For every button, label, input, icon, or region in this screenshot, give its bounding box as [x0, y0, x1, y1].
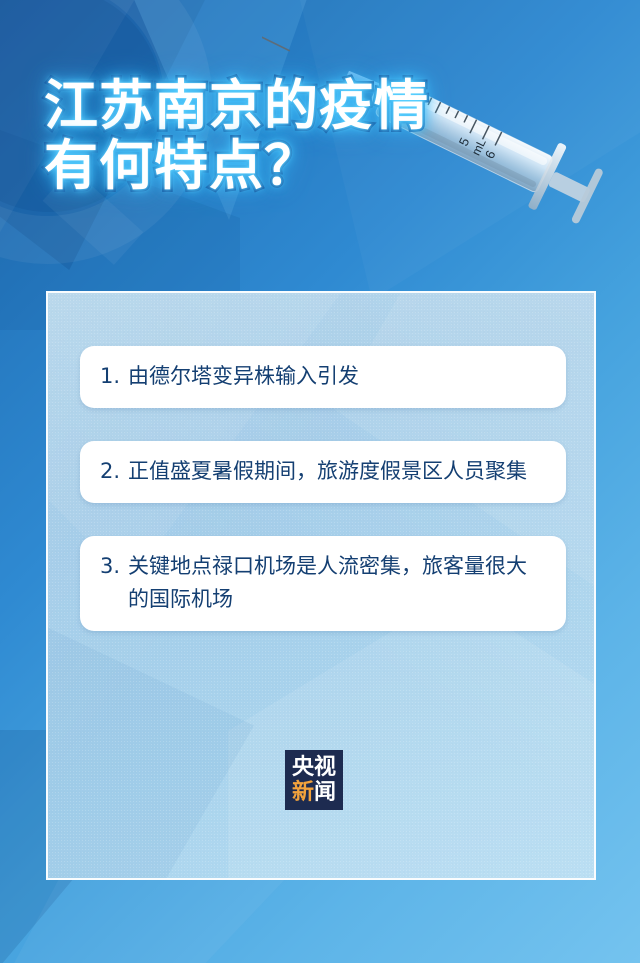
logo-row-top: 央 视: [292, 755, 336, 780]
logo-char-wen: 闻: [314, 780, 336, 805]
logo-row-bottom: 新 闻: [292, 780, 336, 805]
list-item: 2. 正值盛夏暑假期间，旅游度假景区人员聚集: [80, 441, 566, 503]
card-body: 由德尔塔变异株输入引发: [128, 364, 359, 388]
card-text-wrapper: 2. 正值盛夏暑假期间，旅游度假景区人员聚集: [100, 455, 546, 488]
poster-root: 5 mL 6 江苏南京的疫情 有何特点？ 1. 由德尔塔变异株输入引发: [0, 0, 640, 963]
card-text-wrapper: 3. 关键地点禄口机场是人流密集，旅客量很大的国际机场: [100, 550, 546, 616]
card-number: 2.: [100, 455, 120, 488]
logo-char-shi: 视: [314, 755, 336, 780]
card-number: 1.: [100, 360, 120, 393]
content-panel: 1. 由德尔塔变异株输入引发 2. 正值盛夏暑假期间，旅游度假景区人员聚集 3.…: [46, 291, 596, 880]
logo-char-yang: 央: [292, 755, 314, 780]
card-number: 3.: [100, 550, 120, 583]
title-line-2: 有何特点？: [44, 136, 564, 196]
list-item: 3. 关键地点禄口机场是人流密集，旅客量很大的国际机场: [80, 536, 566, 631]
poster-title: 江苏南京的疫情 有何特点？: [44, 76, 564, 196]
card-text-wrapper: 1. 由德尔塔变异株输入引发: [100, 360, 546, 393]
points-list: 1. 由德尔塔变异株输入引发 2. 正值盛夏暑假期间，旅游度假景区人员聚集 3.…: [80, 346, 566, 664]
cctv-news-logo: 央 视 新 闻: [285, 750, 343, 810]
list-item: 1. 由德尔塔变异株输入引发: [80, 346, 566, 408]
card-body: 关键地点禄口机场是人流密集，旅客量很大的国际机场: [128, 554, 527, 611]
card-body: 正值盛夏暑假期间，旅游度假景区人员聚集: [128, 459, 527, 483]
logo-char-xin: 新: [292, 780, 314, 805]
title-line-1: 江苏南京的疫情: [44, 76, 564, 136]
